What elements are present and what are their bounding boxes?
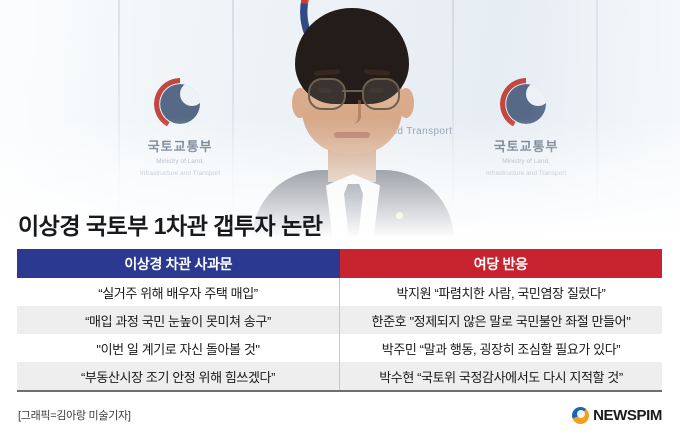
table-head: 이상경 차관 사과문 여당 반응: [17, 249, 662, 278]
table-row: "이번 일 계기로 자신 돌아볼 것" 박주민 “말과 행동, 굉장히 조심할 …: [17, 334, 662, 362]
page-title: 이상경 국토부 1차관 갭투자 논란: [18, 207, 322, 241]
table-body: “실거주 위해 배우자 주택 매입” 박지원 “파렴치한 사람, 국민염장 질렀…: [17, 278, 662, 391]
cell-reaction: 박주민 “말과 행동, 굉장히 조심할 필요가 있다”: [340, 334, 663, 362]
cell-reaction: 한준호 "정제되지 않은 말로 국민불안 좌절 만들어": [340, 306, 663, 334]
column-header-reaction: 여당 반응: [340, 249, 663, 278]
table-header-row: 이상경 차관 사과문 여당 반응: [17, 249, 662, 278]
table-row: “매입 과정 국민 눈높이 못미쳐 송구” 한준호 "정제되지 않은 말로 국민…: [17, 306, 662, 334]
eyeglasses-lens-right: [362, 78, 400, 110]
hero-photo: 국토교통부 Ministry of Land, Infrastructure a…: [0, 0, 680, 238]
table-row: “부동산시장 조기 안정 위해 힘쓰겠다” 박수현 “국토위 국정감사에서도 다…: [17, 362, 662, 391]
column-header-apology: 이상경 차관 사과문: [17, 249, 340, 278]
graphic-credit: [그래픽=김아랑 미술기자]: [18, 407, 131, 423]
cell-apology: “부동산시장 조기 안정 위해 힘쓰겠다”: [17, 362, 340, 391]
newspim-wordmark: NEWSPIM: [593, 407, 662, 424]
newspim-swirl-icon: [572, 407, 589, 424]
cell-apology: "이번 일 계기로 자신 돌아볼 것": [17, 334, 340, 362]
cell-apology: “실거주 위해 배우자 주택 매입”: [17, 278, 340, 306]
comparison-table: 이상경 차관 사과문 여당 반응 “실거주 위해 배우자 주택 매입” 박지원 …: [17, 249, 662, 392]
table-row: “실거주 위해 배우자 주택 매입” 박지원 “파렴치한 사람, 국민염장 질렀…: [17, 278, 662, 306]
cell-apology: “매입 과정 국민 눈높이 못미쳐 송구”: [17, 306, 340, 334]
eyeglasses-lens-left: [308, 78, 346, 110]
cell-reaction: 박지원 “파렴치한 사람, 국민염장 질렀다”: [340, 278, 663, 306]
eyeglasses-bridge: [342, 90, 362, 92]
cell-reaction: 박수현 “국토위 국정감사에서도 다시 지적할 것”: [340, 362, 663, 391]
newspim-logo: NEWSPIM: [572, 407, 662, 424]
